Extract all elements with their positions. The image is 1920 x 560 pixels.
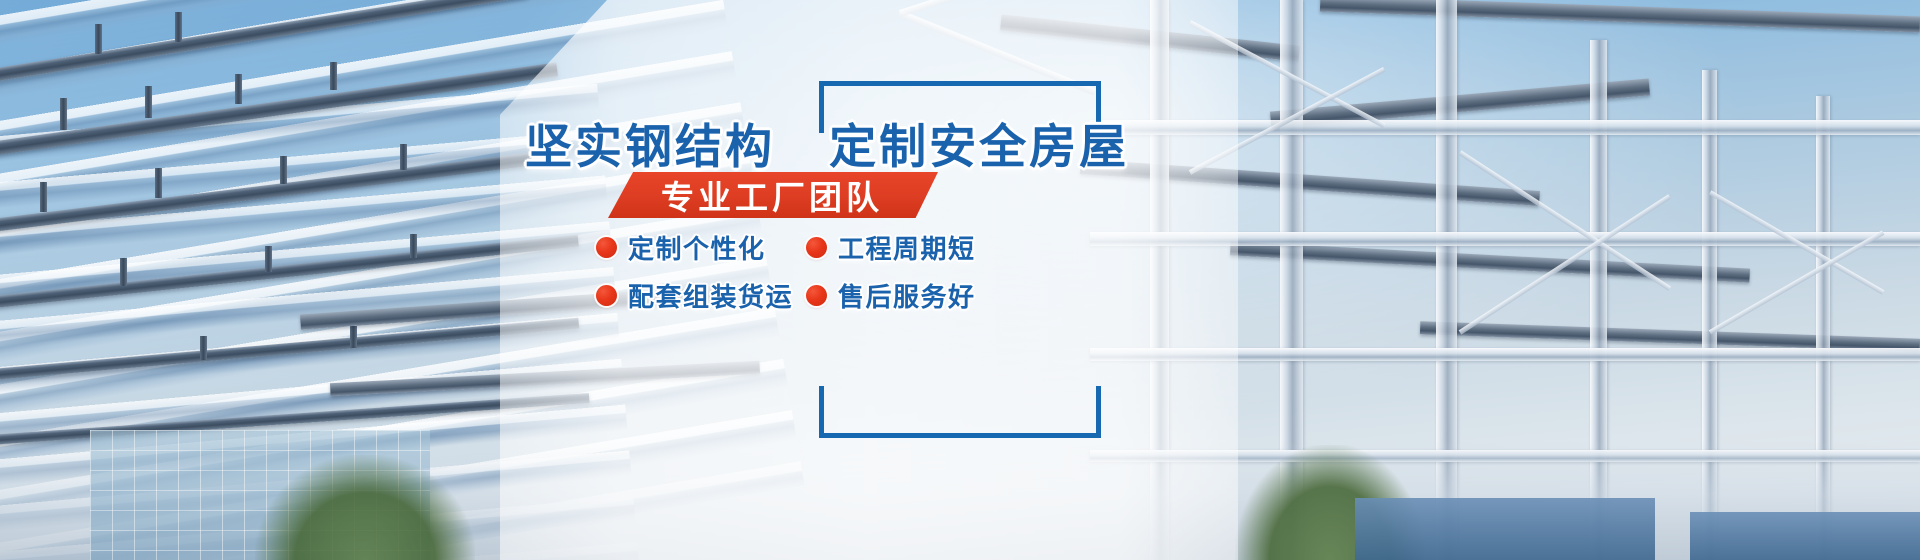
feature-label: 工程周期短 — [838, 229, 976, 266]
cross-brace — [1459, 150, 1671, 290]
steel-post — [330, 62, 337, 90]
headline-part-1: 坚实钢结构 — [525, 120, 775, 173]
decorative-bracket-bottom — [819, 386, 1101, 438]
factory-wall — [1690, 512, 1920, 560]
feature-item-schedule: 工程周期短 — [806, 227, 1006, 267]
steel-post — [265, 246, 272, 272]
bullet-dot-icon — [596, 237, 617, 258]
feature-label: 配套组装货运 — [628, 277, 793, 314]
hero-banner: 坚实钢结构 定制安全房屋 专业工厂团队 定制个性化 工程周期短 配套组装货运 售… — [0, 0, 1920, 560]
feature-label: 售后服务好 — [838, 277, 976, 314]
subtitle-ribbon-label: 专业工厂团队 — [661, 171, 883, 219]
steel-beam — [1090, 120, 1920, 135]
steel-post — [60, 98, 67, 130]
page-title: 坚实钢结构 定制安全房屋 — [525, 119, 1205, 175]
steel-post — [175, 12, 182, 42]
steel-post — [235, 74, 242, 104]
feature-item-custom: 定制个性化 — [596, 227, 796, 267]
steel-post — [95, 24, 102, 54]
cross-brace — [1459, 194, 1671, 334]
feature-list: 定制个性化 工程周期短 配套组装货运 售后服务好 — [596, 227, 1016, 315]
headline-part-2: 定制安全房屋 — [829, 120, 1129, 173]
steel-post — [120, 258, 127, 286]
steel-post — [155, 168, 162, 198]
subtitle-ribbon: 专业工厂团队 — [608, 172, 938, 218]
steel-post — [40, 182, 47, 212]
steel-post — [410, 234, 417, 258]
bullet-dot-icon — [596, 285, 617, 306]
steel-post — [350, 326, 357, 348]
roof-apex-brace — [899, 0, 1101, 17]
factory-wall — [1355, 498, 1655, 560]
bullet-dot-icon — [806, 285, 827, 306]
feature-label: 定制个性化 — [628, 229, 766, 266]
steel-beam — [1090, 348, 1920, 361]
steel-post — [145, 86, 152, 118]
steel-post — [280, 156, 287, 184]
steel-post — [200, 336, 207, 360]
feature-item-assembly: 配套组装货运 — [596, 275, 796, 315]
steel-post — [400, 144, 407, 170]
bullet-dot-icon — [806, 237, 827, 258]
trees — [255, 455, 475, 560]
feature-item-aftersales: 售后服务好 — [806, 275, 1006, 315]
